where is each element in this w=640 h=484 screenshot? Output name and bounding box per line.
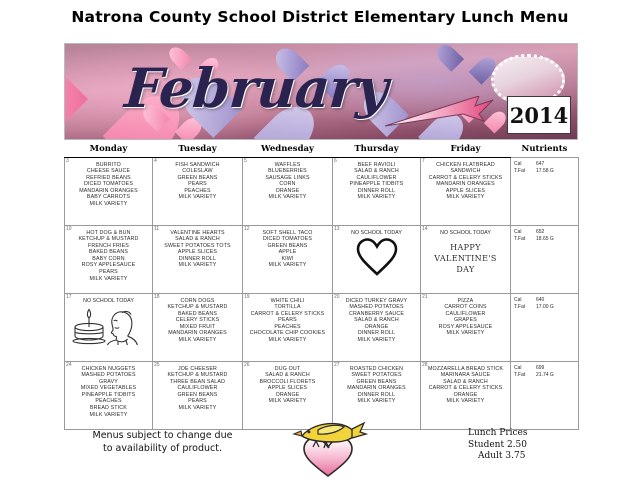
- banner-month-text: February: [123, 56, 390, 120]
- menu-item: MILK VARIETY: [67, 276, 150, 283]
- menu-item: DICED TOMATOES: [67, 181, 150, 188]
- day-cell-no-school[interactable]: 17 NO SCHOOL TODAY: [65, 293, 153, 361]
- no-school-note: NO SCHOOL TODAY: [333, 226, 420, 237]
- day-cell[interactable]: 25 JOE CHEESERKETCHUP & MUSTARDTHREE BEA…: [153, 361, 243, 429]
- menu-item: SALAD & RANCH: [335, 317, 418, 324]
- day-cell[interactable]: 11 VALENTINE HEARTSSALAD & RANCHSWEET PO…: [153, 225, 243, 293]
- menu-item: MILK VARIETY: [335, 398, 418, 405]
- menu-item: MILK VARIETY: [245, 337, 330, 344]
- disclaimer-line-2: to availability of product.: [70, 442, 255, 455]
- menu-item: MILK VARIETY: [335, 194, 418, 201]
- valentines-line-2: VALENTINE'S: [421, 253, 510, 264]
- menu-item: SOFT SHELL TACO: [245, 230, 330, 237]
- calories-value: 640: [536, 297, 544, 304]
- menu-item: SWEET POTATOES: [335, 372, 418, 379]
- valentines-line-1: HAPPY: [421, 242, 510, 253]
- day-number: 10: [66, 226, 72, 232]
- day-cell[interactable]: 20 DICED TURKEY GRAVYMASHED POTATOESCRAN…: [333, 293, 421, 361]
- menu-items: BEEF RAVIOLISALAD & RANCHCAULIFLOWERPINE…: [333, 158, 420, 204]
- day-number: 19: [244, 294, 250, 300]
- day-number: 12: [244, 226, 250, 232]
- menu-items: SOFT SHELL TACODICED TOMATOESGREEN BEANS…: [243, 226, 332, 272]
- no-school-note: NO SCHOOL TODAY: [421, 226, 510, 237]
- total-fat-value: 17.58 G: [536, 168, 554, 175]
- menu-item: BREAD STICK: [67, 405, 150, 412]
- menu-item: MASHED POTATOES: [67, 372, 150, 379]
- menu-item: MILK VARIETY: [155, 262, 240, 269]
- menu-item: CHEESE SAUCE: [67, 168, 150, 175]
- day-cell[interactable]: 28 MOZZARELLA BREAD STICKMARINARA SAUCES…: [421, 361, 511, 429]
- menu-item: BABY CARROTS: [67, 194, 150, 201]
- menu-item: SANDWICH: [423, 168, 508, 175]
- menu-item: PIZZA: [423, 298, 508, 305]
- day-cell-no-school[interactable]: 13 NO SCHOOL TODAY: [333, 225, 421, 293]
- day-cell[interactable]: 10 HOT DOG & BUNKETCHUP & MUSTARDFRENCH …: [65, 225, 153, 293]
- menu-item: MANDARIN ORANGES: [67, 188, 150, 195]
- day-cell[interactable]: 12 SOFT SHELL TACODICED TOMATOESGREEN BE…: [243, 225, 333, 293]
- menu-item: MIXED FRUIT: [155, 324, 240, 331]
- menu-item: PEARS: [245, 317, 330, 324]
- menu-items: VALENTINE HEARTSSALAD & RANCHSWEET POTAT…: [153, 226, 242, 272]
- column-header-nutrients: Nutrients: [511, 144, 579, 157]
- banner-year-label: 2014: [507, 96, 571, 134]
- menu-item: BLUEBERRIES: [245, 168, 330, 175]
- day-number: 3: [66, 158, 69, 164]
- menu-item: COLESLAW: [155, 168, 240, 175]
- menu-item: THREE BEAN SALAD: [155, 379, 240, 386]
- page-title: Natrona County School District Elementar…: [0, 8, 640, 26]
- calendar-week-row: 3 BURRITOCHEESE SAUCEREFRIED BEANSDICED …: [65, 157, 579, 225]
- day-number: 27: [334, 362, 340, 368]
- menu-item: BAKED BEANS: [67, 249, 150, 256]
- menu-item: MILK VARIETY: [155, 337, 240, 344]
- heart-outline-icon: [355, 238, 399, 276]
- menu-items: ROASTED CHICKENSWEET POTATOESGREEN BEANS…: [333, 362, 420, 408]
- day-cell-valentines[interactable]: 14 NO SCHOOL TODAY HAPPY VALENTINE'S DAY: [421, 225, 511, 293]
- menu-item: TORTILLA: [245, 304, 330, 311]
- menu-item: CELERY STICKS: [155, 317, 240, 324]
- day-cell[interactable]: 18 CORN DOGSKETCHUP & MUSTARDBAKED BEANS…: [153, 293, 243, 361]
- menu-items: FISH SANDWICHCOLESLAWGREEN BEANSPEARSPEA…: [153, 158, 242, 204]
- menu-item: PEARS: [67, 269, 150, 276]
- day-cell[interactable]: 6 BEEF RAVIOLISALAD & RANCHCAULIFLOWERPI…: [333, 157, 421, 225]
- menu-item: DINNER ROLL: [335, 392, 418, 399]
- menu-item: MARINARA SAUCE: [423, 372, 508, 379]
- menu-item: ORANGE: [335, 324, 418, 331]
- column-header-wednesday: Wednesday: [243, 144, 333, 157]
- menu-item: APPLE SLICES: [423, 188, 508, 195]
- menu-item: CARROT & CELERY STICKS: [423, 175, 508, 182]
- menu-item: MASHED POTATOES: [335, 304, 418, 311]
- day-number: 20: [334, 294, 340, 300]
- total-fat-label: T.Fat: [514, 304, 536, 311]
- day-cell[interactable]: 5 WAFFLESBLUEBERRIESSAUSAGE LINKSCORNORA…: [243, 157, 333, 225]
- banner-arrow-icon: [383, 96, 503, 130]
- menu-item: DINNER ROLL: [335, 188, 418, 195]
- menu-item: JOE CHEESER: [155, 366, 240, 373]
- day-cell[interactable]: 26 DUG OUTSALAD & RANCHBROCCOLI FLORETSA…: [243, 361, 333, 429]
- calendar-header-row: Monday Tuesday Wednesday Thursday Friday…: [65, 144, 579, 157]
- no-school-note: NO SCHOOL TODAY: [65, 294, 152, 305]
- menu-item: ORANGE: [245, 188, 330, 195]
- nutrients-block: Cal 652 T.Fat 18.65 G: [511, 226, 578, 245]
- calories-value: 647: [536, 161, 544, 168]
- menu-item: MILK VARIETY: [423, 330, 508, 337]
- menu-item: SWEET POTATOES TOTS: [155, 243, 240, 250]
- menu-item: CHICKEN NUGGETS: [67, 366, 150, 373]
- menu-item: CAULIFLOWER: [423, 311, 508, 318]
- menu-item: CORN: [245, 181, 330, 188]
- menu-items: JOE CHEESERKETCHUP & MUSTARDTHREE BEAN S…: [153, 362, 242, 414]
- calories-label: Cal: [514, 229, 536, 236]
- menu-item: MILK VARIETY: [245, 262, 330, 269]
- calories-value: 652: [536, 229, 544, 236]
- calendar-week-row: 17 NO SCHOOL TODAY: [65, 293, 579, 361]
- menu-items: HOT DOG & BUNKETCHUP & MUSTARDFRENCH FRI…: [65, 226, 152, 285]
- total-fat-label: T.Fat: [514, 168, 536, 175]
- menu-item: KIWI: [245, 256, 330, 263]
- total-fat-value: 17.00 G: [536, 304, 554, 311]
- menu-item: APPLE: [245, 249, 330, 256]
- valentines-line-3: DAY: [421, 264, 510, 275]
- menu-item: GREEN BEANS: [245, 243, 330, 250]
- menu-item: MANDARIN ORANGES: [335, 385, 418, 392]
- menu-item: SALAD & RANCH: [245, 372, 330, 379]
- menu-item: GRAVY: [67, 379, 150, 386]
- menu-item: PEACHES: [67, 398, 150, 405]
- menu-item: BURRITO: [67, 162, 150, 169]
- month-banner: February 2014: [64, 43, 578, 140]
- menu-item: APPLE SLICES: [245, 385, 330, 392]
- menu-item: PEARS: [155, 398, 240, 405]
- menu-item: ORANGE: [423, 392, 508, 399]
- calories-label: Cal: [514, 365, 536, 372]
- menu-item: WAFFLES: [245, 162, 330, 169]
- menu-item: SALAD & RANCH: [335, 168, 418, 175]
- menu-items: CHICKEN NUGGETSMASHED POTATOESGRAVYMIXED…: [65, 362, 152, 421]
- total-fat-value: 21.74 G: [536, 372, 554, 379]
- day-cell[interactable]: 7 CHICKEN FLATBREADSANDWICHCARROT & CELE…: [421, 157, 511, 225]
- nutrients-block: Cal 699 T.Fat 21.74 G: [511, 362, 578, 381]
- menu-item: MANDARIN ORANGES: [155, 330, 240, 337]
- menu-item: MILK VARIETY: [423, 398, 508, 405]
- nutrients-cell: Cal 699 T.Fat 21.74 G: [511, 361, 579, 429]
- menu-item: GREEN BEANS: [335, 379, 418, 386]
- calories-value: 699: [536, 365, 544, 372]
- menu-item: SALAD & RANCH: [155, 236, 240, 243]
- menu-item: CHICKEN FLATBREAD: [423, 162, 508, 169]
- menu-item: MOZZARELLA BREAD STICK: [423, 366, 508, 373]
- menu-item: ROSY APPLESAUCE: [423, 324, 508, 331]
- menu-items: PIZZACARROT COINSCAULIFLOWERGRAPESROSY A…: [421, 294, 510, 340]
- lincoln-birthday-cake-icon: [72, 306, 146, 346]
- calories-label: Cal: [514, 297, 536, 304]
- menu-item: MILK VARIETY: [155, 194, 240, 201]
- day-number: 25: [154, 362, 160, 368]
- menu-items: DICED TURKEY GRAVYMASHED POTATOESCRANBER…: [333, 294, 420, 346]
- menu-item: DUG OUT: [245, 366, 330, 373]
- day-number: 13: [334, 226, 340, 232]
- nutrients-cell: Cal 647 T.Fat 17.58 G: [511, 157, 579, 225]
- disclaimer-line-1: Menus subject to change due: [70, 429, 255, 442]
- menu-item: CHOCOLATE CHIP COOKIES: [245, 330, 330, 337]
- disclaimer-note: Menus subject to change due to availabil…: [70, 429, 255, 455]
- calendar-week-row: 10 HOT DOG & BUNKETCHUP & MUSTARDFRENCH …: [65, 225, 579, 293]
- menu-item: PEACHES: [155, 188, 240, 195]
- lunch-menu-page: Natrona County School District Elementar…: [0, 0, 640, 484]
- menu-item: DINNER ROLL: [155, 256, 240, 263]
- banner-heart-purple-top: [451, 46, 487, 78]
- menu-item: BAKED BEANS: [155, 311, 240, 318]
- day-number: 24: [66, 362, 72, 368]
- nutrients-cell: Cal 640 T.Fat 17.00 G: [511, 293, 579, 361]
- day-number: 26: [244, 362, 250, 368]
- menu-item: CARROT COINS: [423, 304, 508, 311]
- menu-item: ORANGE: [245, 392, 330, 399]
- menu-item: MIXED VEGETABLES: [67, 385, 150, 392]
- menu-item: DICED TURKEY GRAVY: [335, 298, 418, 305]
- column-header-friday: Friday: [421, 144, 511, 157]
- menu-item: BEEF RAVIOLI: [335, 162, 418, 169]
- menu-item: CORN DOGS: [155, 298, 240, 305]
- menu-item: GREEN BEANS: [155, 392, 240, 399]
- menu-item: PEACHES: [245, 324, 330, 331]
- menu-item: CAULIFLOWER: [155, 385, 240, 392]
- menu-item: SALAD & RANCH: [423, 379, 508, 386]
- menu-items: BURRITOCHEESE SAUCEREFRIED BEANSDICED TO…: [65, 158, 152, 210]
- menu-item: ROASTED CHICKEN: [335, 366, 418, 373]
- bird-with-heart-icon: [288, 420, 368, 478]
- day-number: 18: [154, 294, 160, 300]
- menu-item: MILK VARIETY: [335, 337, 418, 344]
- menu-item: SAUSAGE LINKS: [245, 175, 330, 182]
- menu-item: KETCHUP & MUSTARD: [67, 236, 150, 243]
- menu-item: FRENCH FRIES: [67, 243, 150, 250]
- menu-item: GREEN BEANS: [155, 175, 240, 182]
- day-number: 14: [422, 226, 428, 232]
- menu-items: WAFFLESBLUEBERRIESSAUSAGE LINKSCORNORANG…: [243, 158, 332, 204]
- total-fat-label: T.Fat: [514, 236, 536, 243]
- total-fat-label: T.Fat: [514, 372, 536, 379]
- menu-items: DUG OUTSALAD & RANCHBROCCOLI FLORETSAPPL…: [243, 362, 332, 408]
- menu-items: CORN DOGSKETCHUP & MUSTARDBAKED BEANSCEL…: [153, 294, 242, 346]
- day-number: 17: [66, 294, 72, 300]
- total-fat-value: 18.65 G: [536, 236, 554, 243]
- column-header-monday: Monday: [65, 144, 153, 157]
- column-header-thursday: Thursday: [333, 144, 421, 157]
- day-number: 5: [244, 158, 247, 164]
- menu-item: VALENTINE HEARTS: [155, 230, 240, 237]
- menu-items: MOZZARELLA BREAD STICKMARINARA SAUCESALA…: [421, 362, 510, 408]
- day-cell[interactable]: 19 WHITE CHILITORTILLACARROT & CELERY ST…: [243, 293, 333, 361]
- lunch-prices-block: Lunch Prices Student 2.50 Adult 3.75: [468, 428, 588, 463]
- day-number: 11: [154, 226, 159, 232]
- column-header-tuesday: Tuesday: [153, 144, 243, 157]
- day-number: 7: [422, 158, 425, 164]
- menu-item: DICED TOMATOES: [245, 236, 330, 243]
- nutrients-block: Cal 647 T.Fat 17.58 G: [511, 158, 578, 177]
- day-cell[interactable]: 27 ROASTED CHICKENSWEET POTATOESGREEN BE…: [333, 361, 421, 429]
- nutrients-block: Cal 640 T.Fat 17.00 G: [511, 294, 578, 313]
- menu-item: MANDARIN ORANGES: [423, 181, 508, 188]
- menu-item: KETCHUP & MUSTARD: [155, 304, 240, 311]
- day-cell[interactable]: 3 BURRITOCHEESE SAUCEREFRIED BEANSDICED …: [65, 157, 153, 225]
- day-cell[interactable]: 4 FISH SANDWICHCOLESLAWGREEN BEANSPEARSP…: [153, 157, 243, 225]
- day-number: 6: [334, 158, 337, 164]
- menu-item: HOT DOG & BUN: [67, 230, 150, 237]
- day-cell[interactable]: 24 CHICKEN NUGGETSMASHED POTATOESGRAVYMI…: [65, 361, 153, 429]
- day-number: 28: [422, 362, 428, 368]
- menu-item: KETCHUP & MUSTARD: [155, 372, 240, 379]
- menu-items: WHITE CHILITORTILLACARROT & CELERY STICK…: [243, 294, 332, 346]
- menu-item: GRAPES: [423, 317, 508, 324]
- menu-item: PINEAPPLE TIDBITS: [335, 181, 418, 188]
- menu-item: MILK VARIETY: [423, 194, 508, 201]
- menu-item: CAULIFLOWER: [335, 175, 418, 182]
- lunch-prices-title: Lunch Prices: [468, 428, 588, 440]
- day-number: 21: [422, 294, 428, 300]
- calories-label: Cal: [514, 161, 536, 168]
- menu-item: CARROT & CELERY STICKS: [423, 385, 508, 392]
- nutrients-cell: Cal 652 T.Fat 18.65 G: [511, 225, 579, 293]
- menu-item: WHITE CHILI: [245, 298, 330, 305]
- menu-calendar-table: Monday Tuesday Wednesday Thursday Friday…: [64, 144, 579, 430]
- menu-item: PEARS: [155, 181, 240, 188]
- menu-item: CRANBERRY SAUCE: [335, 311, 418, 318]
- menu-item: PINEAPPLE TIDBITS: [67, 392, 150, 399]
- menu-item: FISH SANDWICH: [155, 162, 240, 169]
- menu-item: REFRIED BEANS: [67, 175, 150, 182]
- adult-price-label: Adult 3.75: [468, 451, 588, 463]
- menu-item: MILK VARIETY: [155, 405, 240, 412]
- menu-item: BABY CORN: [67, 256, 150, 263]
- menu-item: CARROT & CELERY STICKS: [245, 311, 330, 318]
- menu-item: ROSY APPLESAUCE: [67, 262, 150, 269]
- menu-item: MILK VARIETY: [67, 412, 150, 419]
- menu-item: MILK VARIETY: [67, 201, 150, 208]
- menu-items: CHICKEN FLATBREADSANDWICHCARROT & CELERY…: [421, 158, 510, 204]
- menu-item: MILK VARIETY: [245, 398, 330, 405]
- menu-item: BROCCOLI FLORETS: [245, 379, 330, 386]
- calendar-week-row: 24 CHICKEN NUGGETSMASHED POTATOESGRAVYMI…: [65, 361, 579, 429]
- menu-item: DINNER ROLL: [335, 330, 418, 337]
- menu-item: MILK VARIETY: [245, 194, 330, 201]
- day-number: 4: [154, 158, 157, 164]
- menu-item: APPLE SLICES: [155, 249, 240, 256]
- valentines-greeting: HAPPY VALENTINE'S DAY: [421, 242, 510, 275]
- student-price-label: Student 2.50: [468, 440, 588, 452]
- day-cell[interactable]: 21 PIZZACARROT COINSCAULIFLOWERGRAPESROS…: [421, 293, 511, 361]
